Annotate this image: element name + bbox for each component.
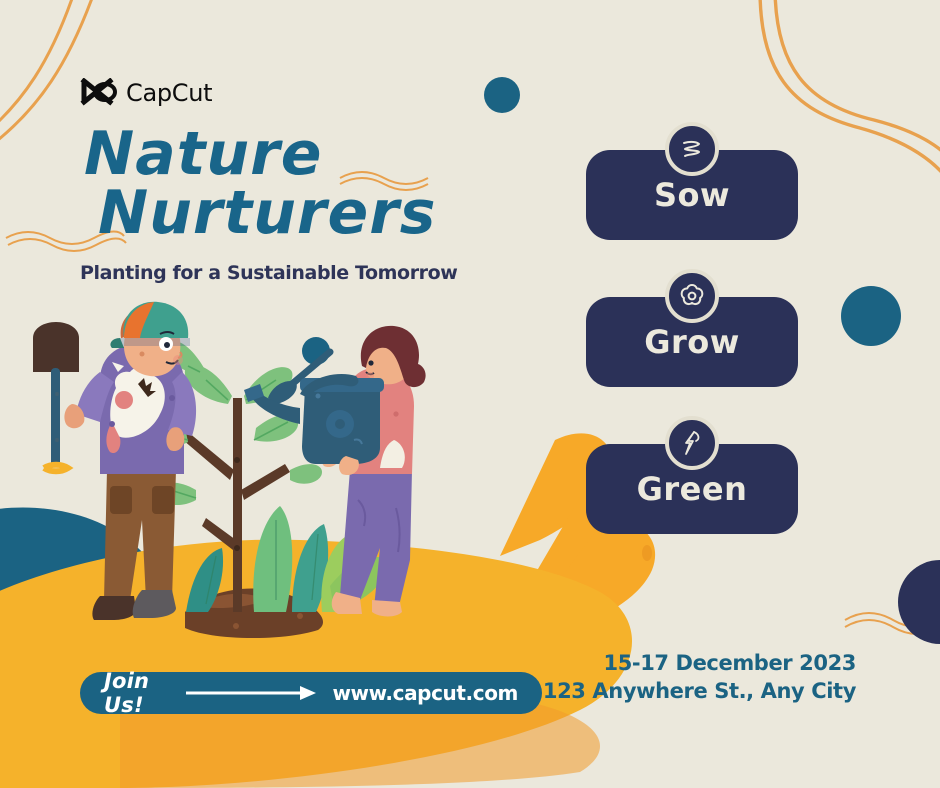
title-line-1: Nature [84, 125, 514, 184]
page-title: Nature Nurturers [84, 125, 514, 243]
step-button-green[interactable]: Green [586, 444, 798, 534]
event-dates: 15-17 December 2023 [543, 650, 856, 678]
teal-dot-right [841, 286, 901, 346]
step-button-grow[interactable]: Grow [586, 297, 798, 387]
leaf-bolt-icon [665, 416, 719, 470]
brand-lockup: CapCut [80, 78, 212, 108]
flower-icon [665, 269, 719, 323]
step-label: Grow [644, 323, 740, 361]
title-line-2: Nurturers [84, 184, 514, 243]
join-us-label: Join Us! [104, 669, 168, 717]
right-arrow-icon [186, 685, 318, 701]
poster-canvas: CapCut Nature Nurturers Planting for a S… [0, 0, 940, 788]
event-details: 15-17 December 2023 123 Anywhere St., An… [543, 650, 856, 705]
page-subtitle: Planting for a Sustainable Tomorrow [80, 262, 457, 284]
scribble-seed-icon [665, 122, 719, 176]
brand-name: CapCut [126, 79, 212, 107]
step-label: Green [637, 470, 748, 508]
step-button-group: Sow Grow Green [586, 150, 798, 534]
capcut-hourglass-logo-icon [80, 78, 120, 108]
join-us-url[interactable]: www.capcut.com [332, 681, 518, 705]
join-us-cta[interactable]: Join Us! www.capcut.com [80, 672, 542, 714]
event-address: 123 Anywhere St., Any City [543, 678, 856, 706]
step-label: Sow [654, 176, 730, 214]
step-button-sow[interactable]: Sow [586, 150, 798, 240]
teal-dot-top [484, 77, 520, 113]
